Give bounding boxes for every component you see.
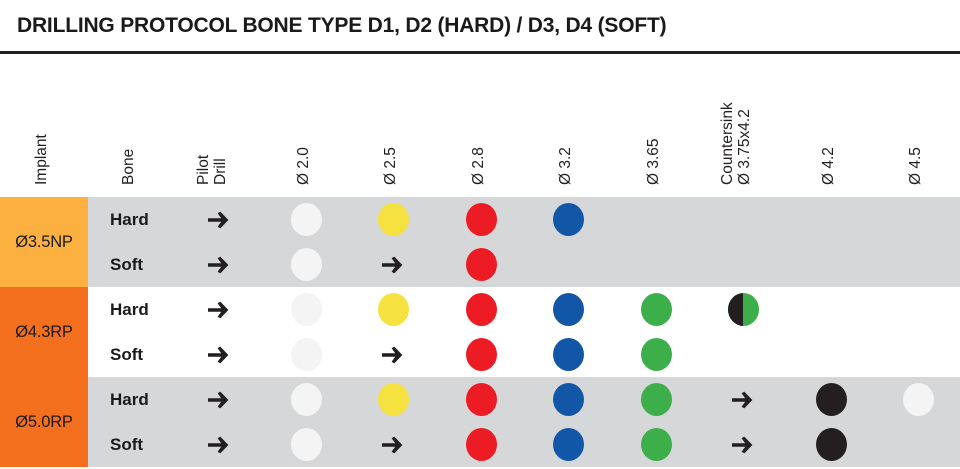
green-dot — [641, 428, 672, 461]
red-dot — [466, 293, 497, 326]
arrow-right-icon — [202, 383, 236, 417]
implant-size-cell: Ø3.5NP — [0, 197, 88, 287]
column-header-d28: Ø 2.8 — [470, 147, 487, 185]
arrow-right-icon — [202, 293, 236, 327]
arrow-right-icon — [726, 383, 760, 417]
yellow-dot-icon — [376, 383, 410, 417]
white-dot-icon — [901, 383, 935, 417]
blue-dot — [553, 383, 584, 416]
column-header-label: Ø 3.2 — [557, 147, 574, 185]
arrow-right-icon — [376, 428, 410, 462]
table-row: Soft — [0, 242, 960, 287]
column-header-pilot: PilotDrill — [195, 155, 229, 185]
page-title: DRILLING PROTOCOL BONE TYPE D1, D2 (HARD… — [17, 14, 666, 38]
white-dot-icon — [289, 383, 323, 417]
blue-dot-icon — [551, 428, 585, 462]
column-header-implant: Implant — [33, 134, 50, 185]
arrow-right-glyph — [732, 436, 754, 454]
table-row: Hard — [0, 377, 960, 422]
arrow-right-glyph — [208, 346, 230, 364]
column-header-label: Ø 3.65 — [645, 138, 662, 185]
white-dot-icon — [289, 293, 323, 327]
white-dot — [291, 383, 322, 416]
red-dot-icon — [464, 383, 498, 417]
column-header-d20: Ø 2.0 — [295, 147, 312, 185]
column-header-sublabel: Drill — [212, 155, 229, 185]
bone-type-label: Soft — [110, 242, 190, 287]
white-dot — [291, 203, 322, 236]
green-dot — [641, 293, 672, 326]
bone-type-label: Hard — [110, 287, 190, 332]
column-header-sublabel: Ø 3.75x4.2 — [736, 102, 753, 185]
table-row: Hard — [0, 287, 960, 332]
white-dot — [291, 248, 322, 281]
blue-dot — [553, 338, 584, 371]
column-header-label: Ø 4.5 — [907, 147, 924, 185]
bone-type-label: Soft — [110, 332, 190, 377]
red-dot-icon — [464, 428, 498, 462]
column-header-label: Bone — [120, 149, 137, 185]
arrow-right-icon — [202, 428, 236, 462]
arrow-right-glyph — [732, 391, 754, 409]
column-header-label: Ø 2.8 — [470, 147, 487, 185]
white-dot — [903, 383, 934, 416]
green-dot-icon — [639, 338, 673, 372]
red-dot-icon — [464, 293, 498, 327]
column-header-d32: Ø 3.2 — [557, 147, 574, 185]
bone-type-label: Hard — [110, 377, 190, 422]
white-dot — [291, 338, 322, 371]
implant-size-cell: Ø4.3RP — [0, 287, 88, 377]
arrow-right-icon — [202, 203, 236, 237]
blue-dot-icon — [551, 293, 585, 327]
blue-dot-icon — [551, 383, 585, 417]
bone-type-label: Soft — [110, 422, 190, 467]
column-header-d45: Ø 4.5 — [907, 147, 924, 185]
arrow-right-icon — [202, 248, 236, 282]
white-dot-icon — [289, 338, 323, 372]
arrow-right-glyph — [382, 256, 404, 274]
green-dot-icon — [639, 428, 673, 462]
red-dot — [466, 428, 497, 461]
white-dot-icon — [289, 428, 323, 462]
blue-dot-icon — [551, 338, 585, 372]
column-header-d42: Ø 4.2 — [820, 147, 837, 185]
blue-dot — [553, 428, 584, 461]
table-row: Hard — [0, 197, 960, 242]
white-dot-icon — [289, 248, 323, 282]
black-dot — [816, 383, 847, 416]
table-row: Soft — [0, 332, 960, 377]
white-dot-icon — [289, 203, 323, 237]
yellow-dot — [378, 383, 409, 416]
yellow-dot — [378, 203, 409, 236]
column-header-label: Ø 2.5 — [382, 147, 399, 185]
arrow-right-glyph — [208, 436, 230, 454]
column-header-bone: Bone — [120, 149, 137, 185]
column-header-label: Pilot — [195, 155, 212, 185]
arrow-right-icon — [376, 248, 410, 282]
red-dot — [466, 338, 497, 371]
blue-dot — [553, 203, 584, 236]
column-header-d25: Ø 2.5 — [382, 147, 399, 185]
column-header-label: Implant — [33, 134, 50, 185]
split-dot — [728, 293, 759, 326]
green-dot-icon — [639, 383, 673, 417]
green-dot — [641, 338, 672, 371]
arrow-right-icon — [726, 428, 760, 462]
black-dot-icon — [814, 428, 848, 462]
arrow-right-glyph — [208, 391, 230, 409]
blue-dot-icon — [551, 203, 585, 237]
column-header-d365: Ø 3.65 — [645, 138, 662, 185]
drilling-protocol-chart: DRILLING PROTOCOL BONE TYPE D1, D2 (HARD… — [0, 0, 960, 469]
white-dot — [291, 428, 322, 461]
arrow-right-glyph — [208, 211, 230, 229]
black-dot — [816, 428, 847, 461]
red-dot-icon — [464, 248, 498, 282]
red-dot-icon — [464, 203, 498, 237]
yellow-dot — [378, 293, 409, 326]
red-dot — [466, 383, 497, 416]
red-dot — [466, 248, 497, 281]
black-dot-icon — [814, 383, 848, 417]
yellow-dot-icon — [376, 203, 410, 237]
yellow-dot-icon — [376, 293, 410, 327]
implant-size-cell: Ø5.0RP — [0, 377, 88, 467]
arrow-right-glyph — [382, 346, 404, 364]
green-dot — [641, 383, 672, 416]
bone-type-label: Hard — [110, 197, 190, 242]
arrow-right-icon — [202, 338, 236, 372]
arrow-right-glyph — [208, 301, 230, 319]
arrow-right-glyph — [208, 256, 230, 274]
green-dot-icon — [639, 293, 673, 327]
table-row: Soft — [0, 422, 960, 467]
blue-dot — [553, 293, 584, 326]
arrow-right-icon — [376, 338, 410, 372]
column-header-row: ImplantBonePilotDrillØ 2.0Ø 2.5Ø 2.8Ø 3.… — [0, 54, 960, 197]
white-dot — [291, 293, 322, 326]
red-dot — [466, 203, 497, 236]
column-header-label: Ø 2.0 — [295, 147, 312, 185]
column-header-label: Ø 4.2 — [820, 147, 837, 185]
column-header-countersink: CountersinkØ 3.75x4.2 — [719, 102, 753, 185]
red-dot-icon — [464, 338, 498, 372]
arrow-right-glyph — [382, 436, 404, 454]
split-dot-black-green-icon — [726, 293, 760, 327]
column-header-label: Countersink — [719, 102, 736, 185]
